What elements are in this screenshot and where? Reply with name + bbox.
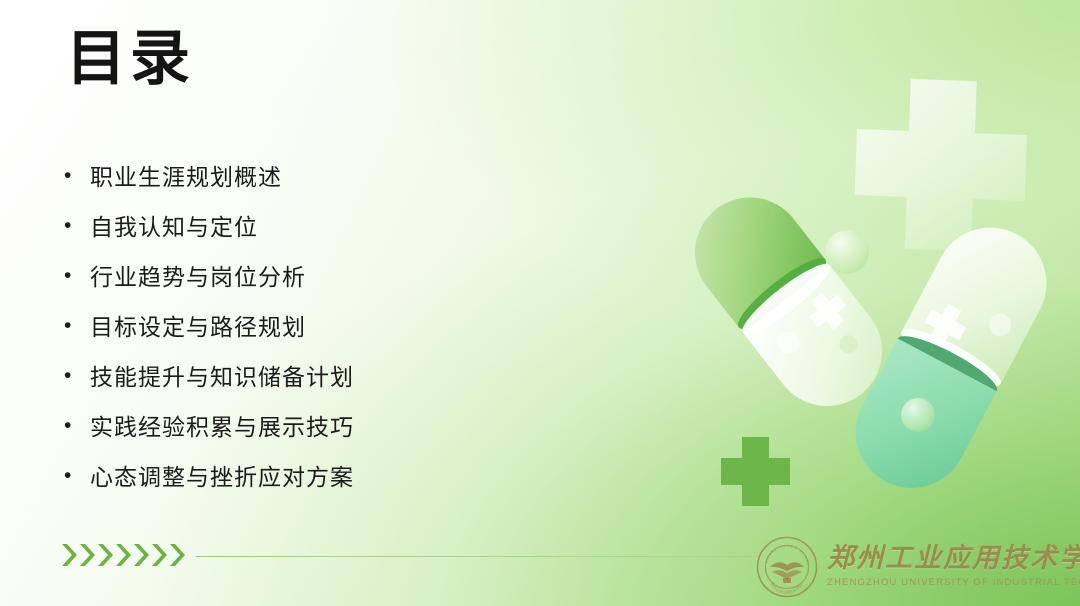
- capsule-right: [836, 208, 1066, 508]
- chevron-right-icon: [168, 542, 185, 568]
- bullet-icon: •: [60, 365, 90, 386]
- list-item[interactable]: • 实践经验积累与展示技巧: [60, 400, 620, 450]
- logo-name-en: ZHENGZHOU UNIVERSITY OF INDUSTRIAL TECHN…: [827, 576, 1080, 589]
- list-item[interactable]: • 技能提升与知识储备计划: [60, 350, 620, 400]
- bullet-icon: •: [60, 265, 90, 286]
- bullet-icon: •: [60, 415, 90, 436]
- capsule-illustration: [620, 70, 1080, 540]
- bullet-icon: •: [60, 465, 90, 486]
- university-seal-icon: ZHENGZHOU UNIV. OF INDUSTRIAL TECH. 郑州工业…: [756, 536, 818, 598]
- footer-divider: [196, 556, 760, 557]
- capsule-cross-right: [919, 298, 972, 351]
- list-item[interactable]: • 行业趋势与岗位分析: [60, 250, 620, 300]
- list-item[interactable]: • 自我认知与定位: [60, 200, 620, 250]
- chevron-decoration: [60, 541, 185, 569]
- list-item-label: 心态调整与挫折应对方案: [90, 458, 354, 492]
- logo-text-block: 郑州工业应用技术学院 ZHENGZHOU UNIVERSITY OF INDUS…: [827, 544, 1080, 590]
- svg-text:ZHENGZHOU UNIV. OF INDUSTRIAL: ZHENGZHOU UNIV. OF INDUSTRIAL TECH.: [756, 536, 810, 566]
- list-item-label: 实践经验积累与展示技巧: [90, 408, 354, 442]
- bullet-icon: •: [60, 165, 90, 186]
- list-item[interactable]: • 职业生涯规划概述: [60, 150, 620, 200]
- chevron-right-icon: [60, 542, 77, 568]
- logo-name-cn: 郑州工业应用技术学院: [827, 544, 1080, 574]
- list-item-label: 目标设定与路径规划: [90, 308, 306, 342]
- chevron-right-icon: [78, 542, 95, 568]
- sphere-small: [825, 230, 869, 274]
- chevron-right-icon: [150, 542, 167, 568]
- chevron-right-icon: [114, 542, 131, 568]
- bullet-icon: •: [60, 315, 90, 336]
- list-item-label: 行业趋势与岗位分析: [90, 258, 306, 292]
- sphere-medium: [901, 398, 935, 432]
- chevron-right-icon: [96, 542, 113, 568]
- page-title: 目录: [66, 26, 194, 92]
- chevron-right-icon: [132, 542, 149, 568]
- small-cross-icon: [721, 437, 790, 506]
- university-logo: ZHENGZHOU UNIV. OF INDUSTRIAL TECH. 郑州工业…: [756, 532, 1074, 602]
- contents-list: • 职业生涯规划概述 • 自我认知与定位 • 行业趋势与岗位分析 • 目标设定与…: [60, 150, 620, 500]
- list-item-label: 技能提升与知识储备计划: [90, 358, 354, 392]
- large-cross-icon: [853, 77, 1029, 253]
- list-item-label: 自我认知与定位: [90, 208, 258, 242]
- slide-canvas: 目录 • 职业生涯规划概述 • 自我认知与定位 • 行业趋势与岗位分析 • 目标…: [0, 0, 1080, 606]
- list-item-label: 职业生涯规划概述: [90, 158, 282, 192]
- list-item[interactable]: • 心态调整与挫折应对方案: [60, 450, 620, 500]
- bullet-icon: •: [60, 215, 90, 236]
- capsule-left: [669, 170, 905, 428]
- capsule-cross-left: [802, 286, 853, 337]
- list-item[interactable]: • 目标设定与路径规划: [60, 300, 620, 350]
